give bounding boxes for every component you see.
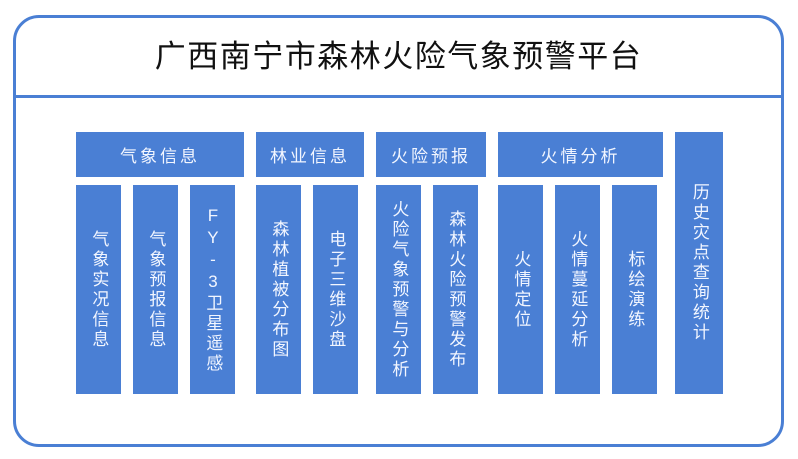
group-items-fire-situation-analysis: 火情定位火情蔓延分析标绘演练 xyxy=(498,185,663,394)
module-historical-disaster-point-query-statistics[interactable]: 历史灾点查询统计 xyxy=(675,132,723,394)
module-label: FY-3卫星遥感 xyxy=(204,206,222,374)
group-header-fire-situation-analysis[interactable]: 火情分析 xyxy=(498,132,663,177)
group-header-fire-risk-forecast[interactable]: 火险预报 xyxy=(376,132,486,177)
module-label: 森林植被分布图 xyxy=(270,220,288,360)
module-weather-live-info[interactable]: 气象实况信息 xyxy=(76,185,121,394)
module-label: 火情定位 xyxy=(512,250,530,330)
module-electronic-3d-sandtable[interactable]: 电子三维沙盘 xyxy=(313,185,358,394)
module-fy3-satellite-remote-sensing[interactable]: FY-3卫星遥感 xyxy=(190,185,235,394)
module-board: 气象信息气象实况信息气象预报信息FY-3卫星遥感林业信息森林植被分布图电子三维沙… xyxy=(16,98,781,444)
group-header-label: 林业信息 xyxy=(270,142,350,167)
group-header-label: 气象信息 xyxy=(120,142,200,167)
page-title: 广西南宁市森林火险气象预警平台 xyxy=(155,41,643,72)
group-items-forestry-information: 森林植被分布图电子三维沙盘 xyxy=(256,185,364,394)
module-label: 电子三维沙盘 xyxy=(327,230,345,350)
group-header-weather-information[interactable]: 气象信息 xyxy=(76,132,244,177)
module-forest-vegetation-distribution-map[interactable]: 森林植被分布图 xyxy=(256,185,301,394)
application-frame: 广西南宁市森林火险气象预警平台 气象信息气象实况信息气象预报信息FY-3卫星遥感… xyxy=(13,15,784,447)
module-plotting-drill[interactable]: 标绘演练 xyxy=(612,185,657,394)
module-fire-spread-analysis[interactable]: 火情蔓延分析 xyxy=(555,185,600,394)
module-label: 森林火险预警发布 xyxy=(447,210,465,370)
group-items-fire-risk-forecast: 火险气象预警与分析森林火险预警发布 xyxy=(376,185,486,394)
group-header-label: 火险预报 xyxy=(391,142,471,167)
module-label: 气象预报信息 xyxy=(147,230,165,350)
title-bar: 广西南宁市森林火险气象预警平台 xyxy=(16,18,781,98)
module-label: 历史灾点查询统计 xyxy=(690,183,708,343)
module-forest-fire-risk-warning-release[interactable]: 森林火险预警发布 xyxy=(433,185,478,394)
module-fire-risk-weather-warning-analysis[interactable]: 火险气象预警与分析 xyxy=(376,185,421,394)
module-label: 火情蔓延分析 xyxy=(569,230,587,350)
module-weather-forecast-info[interactable]: 气象预报信息 xyxy=(133,185,178,394)
group-header-label: 火情分析 xyxy=(541,142,621,167)
module-label: 标绘演练 xyxy=(626,250,644,330)
module-label: 火险气象预警与分析 xyxy=(390,200,408,380)
group-header-forestry-information[interactable]: 林业信息 xyxy=(256,132,364,177)
module-label: 气象实况信息 xyxy=(90,230,108,350)
module-fire-location[interactable]: 火情定位 xyxy=(498,185,543,394)
group-items-weather-information: 气象实况信息气象预报信息FY-3卫星遥感 xyxy=(76,185,244,394)
